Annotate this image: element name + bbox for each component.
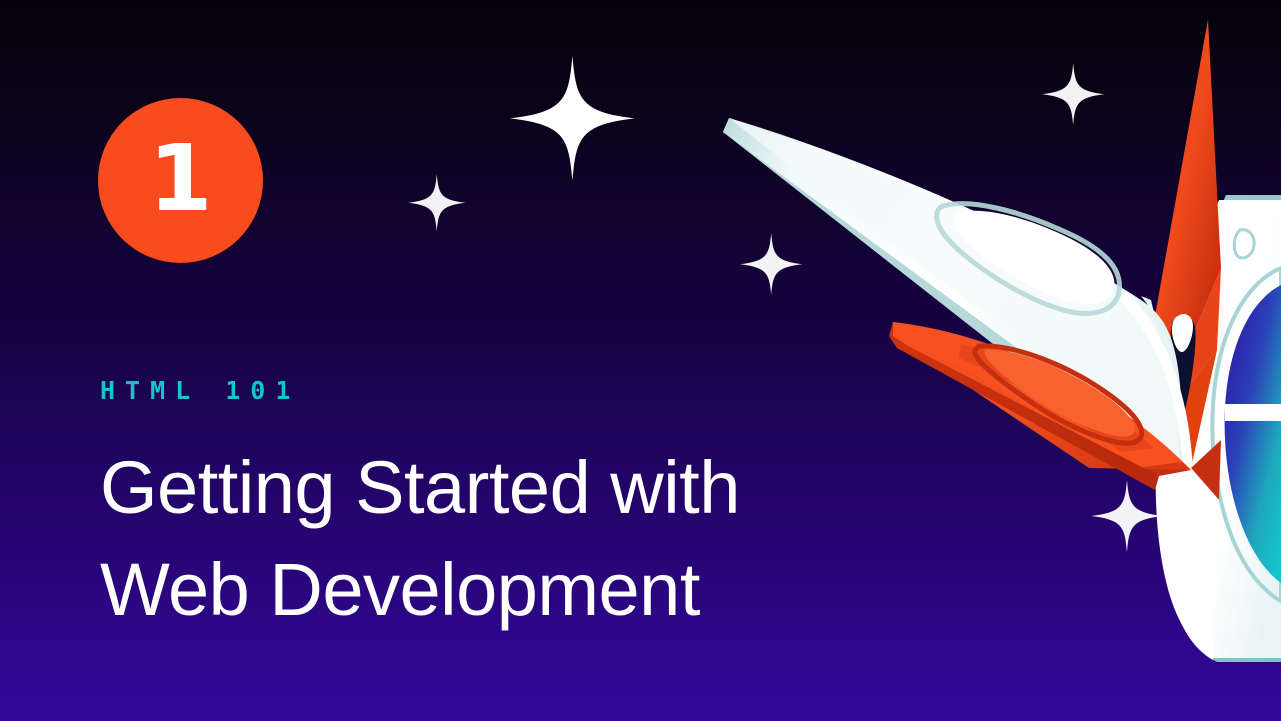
star-large-top-center — [510, 56, 635, 181]
title-block: HTML 101 Getting Started with Web Develo… — [100, 378, 900, 641]
course-eyebrow-label: HTML 101 — [100, 378, 900, 403]
lower-orange-wing — [889, 322, 1191, 490]
rocket-body — [1156, 195, 1281, 662]
crane-beak-accent — [1171, 314, 1196, 420]
lower-white-wedge — [971, 292, 1193, 470]
upper-orange-wing — [1154, 20, 1221, 468]
star-small-left — [408, 174, 466, 232]
star-small-lower-right — [1091, 480, 1163, 552]
star-small-upper-right — [1042, 63, 1104, 125]
step-number-text: 1 — [148, 133, 212, 225]
slide-canvas: 1 HTML 101 Getting Started with Web Deve… — [0, 0, 1281, 721]
star-small-mid — [740, 233, 802, 295]
crane-nose-point — [1173, 440, 1221, 660]
page-title-line-1: Getting Started with — [100, 437, 900, 539]
page-title-line-2: Web Development — [100, 539, 900, 641]
step-number-badge: 1 — [98, 98, 263, 263]
page-title: Getting Started with Web Development — [100, 437, 900, 641]
